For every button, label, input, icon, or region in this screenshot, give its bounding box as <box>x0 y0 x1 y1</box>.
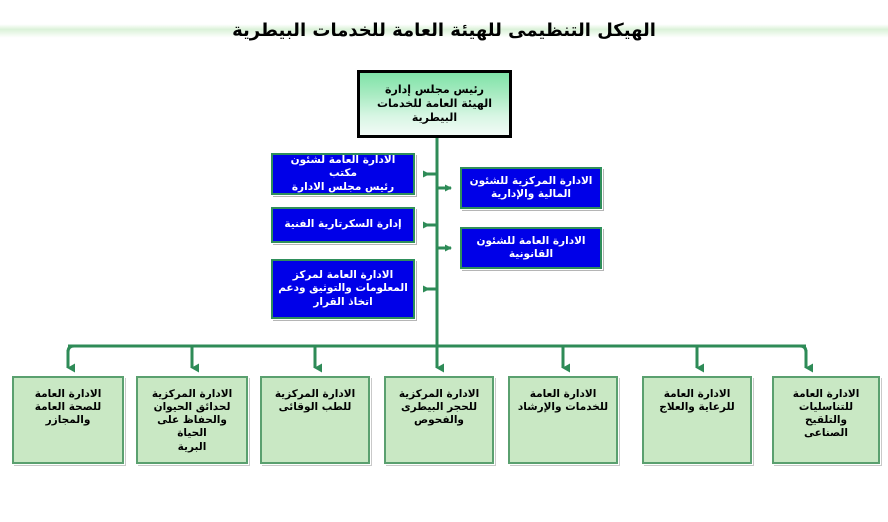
org-node-label: الادارة المركزية لحدائق الحيوان والحفاظ … <box>144 382 240 454</box>
org-node-technical-secretariat[interactable]: إدارة السكرتارية الفنية <box>271 207 415 243</box>
page-title: الهيكل التنظيمى للهيئة العامة للخدمات ال… <box>0 20 888 41</box>
org-node-care-treatment[interactable]: الادارة العامة للرعاية والعلاج <box>642 376 752 464</box>
org-node-zoos-wildlife[interactable]: الادارة المركزية لحدائق الحيوان والحفاظ … <box>136 376 248 464</box>
org-node-label: الادارة العامة لشئون مكتب رئيس مجلس الاد… <box>278 154 408 193</box>
org-node-label: إدارة السكرتارية الفنية <box>284 218 401 231</box>
org-node-legal-affairs[interactable]: الادارة العامة للشئون القانونية <box>460 227 602 269</box>
org-node-office-affairs[interactable]: الادارة العامة لشئون مكتب رئيس مجلس الاد… <box>271 153 415 195</box>
org-node-label: الادارة المركزية للطب الوقائى <box>268 382 362 414</box>
org-node-label: الادارة العامة للشئون القانونية <box>477 235 586 261</box>
org-node-label: الادارة العامة للصحة العامة والمجازر <box>20 382 116 427</box>
org-node-label: الادارة العامة للتناسليات والتلقيح الصنا… <box>780 382 872 441</box>
org-node-public-health[interactable]: الادارة العامة للصحة العامة والمجازر <box>12 376 124 464</box>
org-node-information-center[interactable]: الادارة العامة لمركز المعلومات والتوثيق … <box>271 259 415 319</box>
org-node-preventive-medicine[interactable]: الادارة المركزية للطب الوقائى <box>260 376 370 464</box>
org-node-financial-administrative[interactable]: الادارة المركزية للشئون المالية والإداري… <box>460 167 602 209</box>
org-node-chairman[interactable]: رئيس مجلس إدارة الهيئة العامة للخدمات ال… <box>357 70 512 138</box>
org-chart-canvas: الهيكل التنظيمى للهيئة العامة للخدمات ال… <box>0 0 888 522</box>
org-node-quarantine-inspection[interactable]: الادارة المركزية للحجر البيطرى والفحوص <box>384 376 494 464</box>
org-node-label: الادارة المركزية للحجر البيطرى والفحوص <box>392 382 486 427</box>
org-node-reproduction-insemination[interactable]: الادارة العامة للتناسليات والتلقيح الصنا… <box>772 376 880 464</box>
org-node-label: الادارة العامة للخدمات والإرشاد <box>516 382 610 414</box>
org-node-label: الادارة العامة للرعاية والعلاج <box>650 382 744 414</box>
org-node-services-guidance[interactable]: الادارة العامة للخدمات والإرشاد <box>508 376 618 464</box>
org-node-label: رئيس مجلس إدارة الهيئة العامة للخدمات ال… <box>377 83 492 124</box>
org-node-label: الادارة العامة لمركز المعلومات والتوثيق … <box>278 269 408 308</box>
org-node-label: الادارة المركزية للشئون المالية والإداري… <box>470 175 593 201</box>
